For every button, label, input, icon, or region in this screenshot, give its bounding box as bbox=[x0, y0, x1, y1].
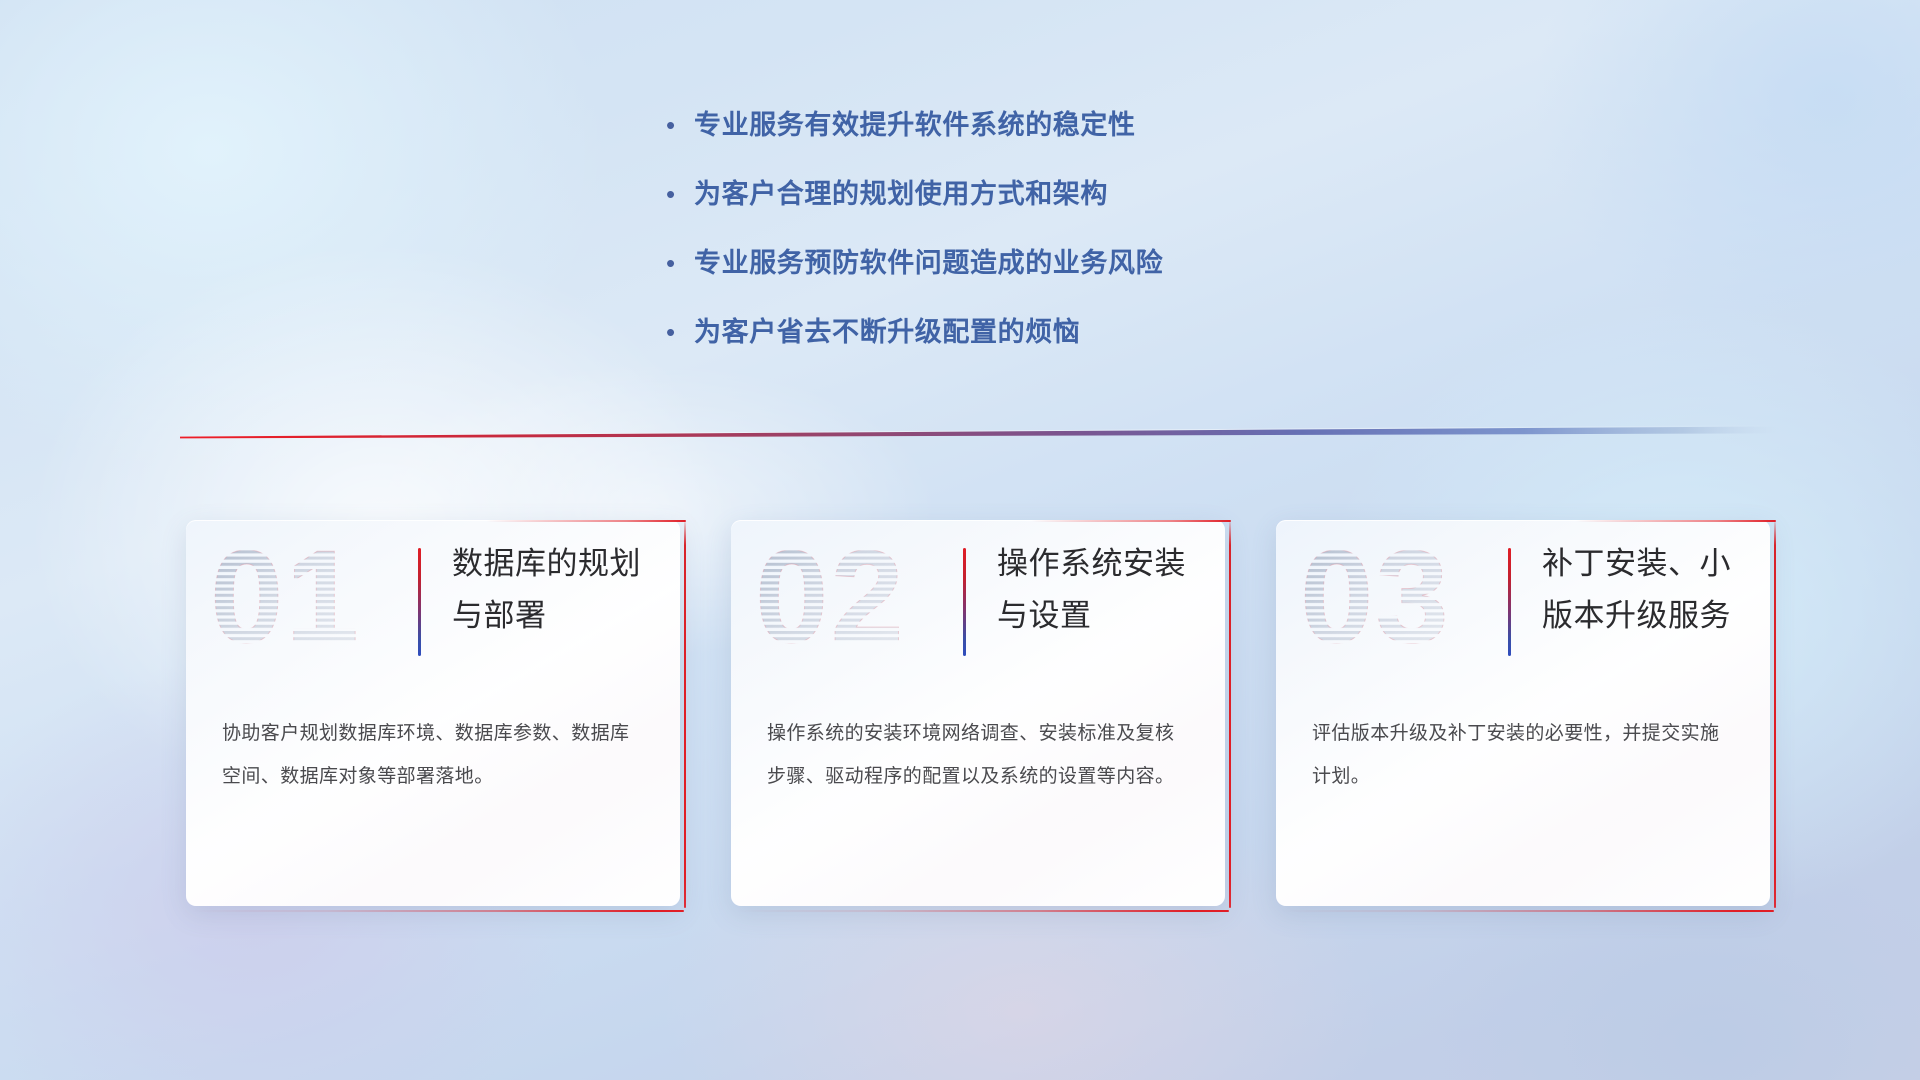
background-glow-top-left bbox=[0, 0, 760, 600]
card-border-bottom bbox=[190, 910, 684, 913]
sliced-number-icon: 01 01 bbox=[210, 538, 400, 668]
card-title: 操作系统安装与设置 bbox=[997, 538, 1209, 642]
slide-canvas: • 专业服务有效提升软件系统的稳定性 • 为客户合理的规划使用方式和架构 • 专… bbox=[0, 0, 1920, 1080]
service-card[interactable]: 01 01 数据库的规划与部署 协助客户规划数据库环境、数据库参数、数据库空间、… bbox=[186, 520, 686, 912]
tapered-divider bbox=[180, 424, 1780, 442]
card-number-tint: 01 bbox=[210, 538, 361, 668]
sliced-number-icon: 02 02 bbox=[755, 538, 945, 668]
card-description: 协助客户规划数据库环境、数据库参数、数据库空间、数据库对象等部署落地。 bbox=[222, 712, 646, 798]
card-title: 数据库的规划与部署 bbox=[452, 538, 664, 642]
card-surface: 02 02 操作系统安装与设置 操作系统的安装环境网络调查、安装标准及复核步骤、… bbox=[731, 520, 1225, 906]
service-card-row: 01 01 数据库的规划与部署 协助客户规划数据库环境、数据库参数、数据库空间、… bbox=[186, 520, 1776, 912]
card-description: 评估版本升级及补丁安装的必要性，并提交实施计划。 bbox=[1312, 712, 1736, 798]
background-glow-top-right bbox=[1420, 0, 1920, 460]
bullet-text: 为客户合理的规划使用方式和架构 bbox=[694, 173, 1108, 215]
card-header: 03 03 补丁安装、小版本升级服务 bbox=[1276, 520, 1770, 690]
service-card[interactable]: 02 02 操作系统安装与设置 操作系统的安装环境网络调查、安装标准及复核步骤、… bbox=[731, 520, 1231, 912]
card-border-right bbox=[684, 522, 687, 908]
card-surface: 03 03 补丁安装、小版本升级服务 评估版本升级及补丁安装的必要性，并提交实施… bbox=[1276, 520, 1770, 906]
bullet-dot-icon: • bbox=[660, 311, 694, 353]
sliced-number-icon: 03 03 bbox=[1300, 538, 1490, 668]
bullet-dot-icon: • bbox=[660, 104, 694, 146]
bullet-text: 为客户省去不断升级配置的烦恼 bbox=[694, 311, 1080, 353]
benefits-bullet-list: • 专业服务有效提升软件系统的稳定性 • 为客户合理的规划使用方式和架构 • 专… bbox=[660, 104, 1440, 380]
card-border-right bbox=[1229, 522, 1232, 908]
card-header: 01 01 数据库的规划与部署 bbox=[186, 520, 680, 690]
card-surface: 01 01 数据库的规划与部署 协助客户规划数据库环境、数据库参数、数据库空间、… bbox=[186, 520, 680, 906]
title-accent-bar bbox=[418, 548, 421, 656]
card-border-right bbox=[1774, 522, 1777, 908]
card-header: 02 02 操作系统安装与设置 bbox=[731, 520, 1225, 690]
title-accent-bar bbox=[963, 548, 966, 656]
list-item: • 为客户省去不断升级配置的烦恼 bbox=[660, 311, 1440, 353]
card-number-tint: 03 bbox=[1300, 538, 1451, 668]
title-accent-bar bbox=[1508, 548, 1511, 656]
card-border-bottom bbox=[1280, 910, 1774, 913]
card-number-tint: 02 bbox=[755, 538, 906, 668]
bullet-text: 专业服务有效提升软件系统的稳定性 bbox=[694, 104, 1136, 146]
card-description: 操作系统的安装环境网络调查、安装标准及复核步骤、驱动程序的配置以及系统的设置等内… bbox=[767, 712, 1191, 798]
card-title: 补丁安装、小版本升级服务 bbox=[1542, 538, 1754, 642]
divider-shape-icon bbox=[180, 424, 1780, 442]
card-number-watermark: 02 02 bbox=[755, 538, 945, 668]
service-card[interactable]: 03 03 补丁安装、小版本升级服务 评估版本升级及补丁安装的必要性，并提交实施… bbox=[1276, 520, 1776, 912]
bullet-text: 专业服务预防软件问题造成的业务风险 bbox=[694, 242, 1163, 284]
list-item: • 专业服务有效提升软件系统的稳定性 bbox=[660, 104, 1440, 146]
card-number-watermark: 03 03 bbox=[1300, 538, 1490, 668]
card-border-bottom bbox=[735, 910, 1229, 913]
bullet-dot-icon: • bbox=[660, 242, 694, 284]
list-item: • 为客户合理的规划使用方式和架构 bbox=[660, 173, 1440, 215]
card-number-watermark: 01 01 bbox=[210, 538, 400, 668]
bullet-dot-icon: • bbox=[660, 173, 694, 215]
list-item: • 专业服务预防软件问题造成的业务风险 bbox=[660, 242, 1440, 284]
